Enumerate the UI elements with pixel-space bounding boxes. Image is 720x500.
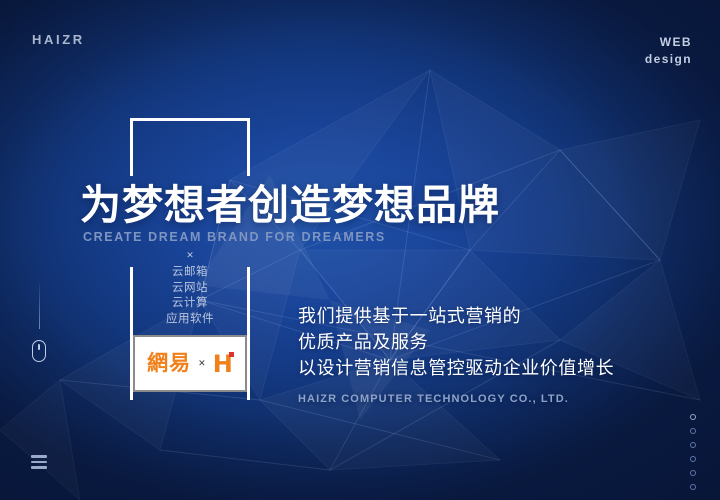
header-tagline: WEB design — [645, 34, 692, 68]
pager-dot[interactable] — [690, 442, 696, 448]
page-title: 为梦想者创造梦想品牌 — [80, 182, 500, 228]
background-vignette — [0, 0, 720, 500]
mouse-wheel-icon — [38, 344, 40, 350]
body-copy: 我们提供基于一站式营销的 优质产品及服务 以设计营销信息管控驱动企业价值增长 H… — [298, 303, 614, 412]
netease-logo: 網易 — [147, 353, 191, 375]
menu-bar — [31, 455, 47, 458]
header-tagline-line2: design — [645, 51, 692, 68]
haizr-dot-icon — [229, 352, 234, 357]
hamburger-menu-icon[interactable] — [31, 455, 47, 468]
pager-dot[interactable] — [690, 484, 696, 490]
header-tagline-line1: WEB — [645, 34, 692, 51]
pager-dot[interactable] — [690, 428, 696, 434]
body-line-1: 我们提供基于一站式营销的 — [298, 303, 614, 329]
section-pager[interactable] — [690, 414, 696, 490]
partner-logo-card: 網易 ✕ H — [133, 335, 247, 392]
menu-bar — [31, 461, 47, 464]
body-line-2: 优质产品及服务 — [298, 329, 614, 355]
company-tagline: HAIZR COMPUTER TECHNOLOGY CO., LTD. — [298, 386, 614, 412]
haizr-h-logo: H — [213, 352, 233, 376]
pager-dot[interactable] — [690, 456, 696, 462]
scroll-mouse-icon[interactable] — [32, 340, 46, 362]
page-subtitle: CREATE DREAM BRAND FOR DREAMERS — [83, 230, 386, 244]
menu-bar — [31, 466, 47, 469]
panel-mark-icon: ✕ — [130, 250, 250, 260]
body-line-3: 以设计营销信息管控驱动企业价值增长 — [298, 355, 614, 381]
list-item[interactable]: 云计算 — [130, 296, 250, 312]
slide-canvas: HAIZR WEB design 为梦想者创造梦想品牌 CREATE DREAM… — [0, 0, 720, 500]
cross-icon: ✕ — [198, 358, 206, 369]
pager-dot[interactable] — [690, 414, 696, 420]
list-item[interactable]: 云网站 — [130, 281, 250, 297]
service-list: 云邮箱 云网站 云计算 应用软件 — [130, 265, 250, 327]
decorative-bracket-frame — [130, 118, 250, 176]
scroll-rail-line — [39, 283, 40, 329]
brand-logo[interactable]: HAIZR — [32, 32, 85, 47]
list-item[interactable]: 云邮箱 — [130, 265, 250, 281]
list-item[interactable]: 应用软件 — [130, 312, 250, 328]
pager-dot[interactable] — [690, 470, 696, 476]
